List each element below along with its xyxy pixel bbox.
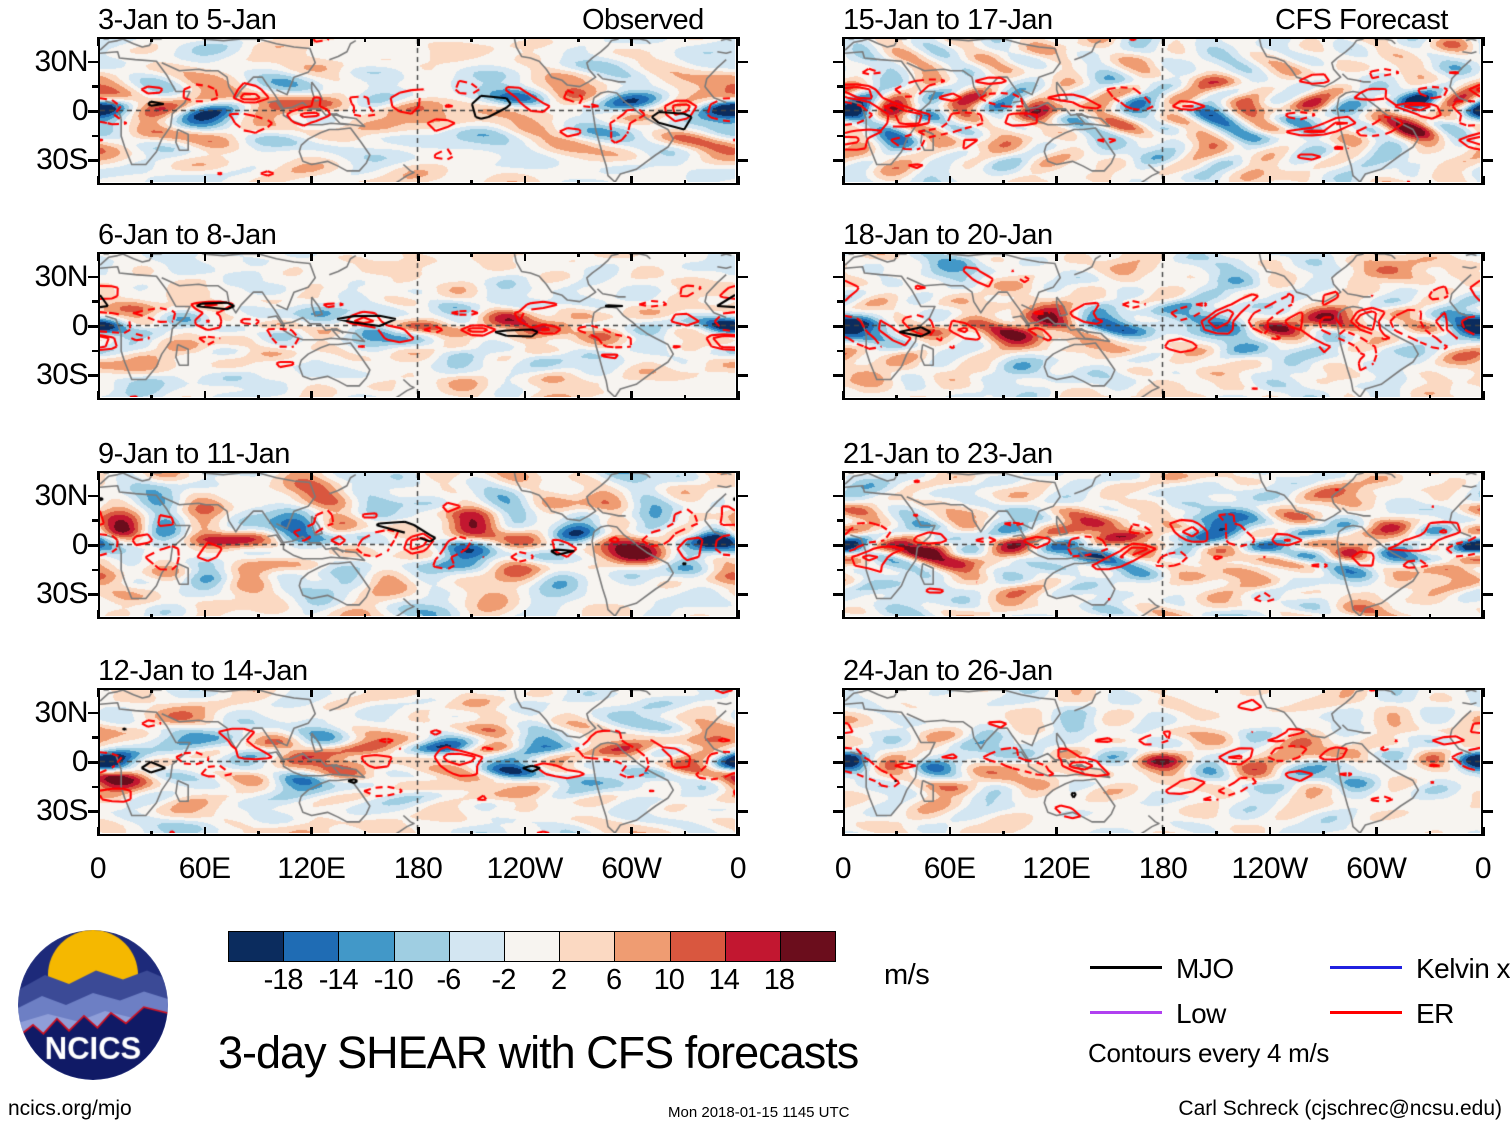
map-canvas: [845, 254, 1480, 397]
legend-label-er: ER: [1416, 1000, 1454, 1028]
axis-tick: [470, 180, 473, 185]
axis-tick: [1162, 610, 1165, 619]
axis-tick: [1322, 614, 1325, 619]
axis-tick: [577, 180, 580, 185]
axis-tick: [738, 593, 748, 596]
axis-tick: [842, 471, 845, 480]
axis-tick: [1375, 471, 1378, 480]
axis-tick: [842, 37, 845, 46]
axis-tick: [1055, 688, 1058, 697]
axis-tick: [833, 276, 843, 279]
axis-tick: [949, 391, 952, 400]
y-axis-label: 30N: [0, 698, 88, 728]
axis-tick: [364, 831, 367, 836]
axis-tick: [1269, 471, 1272, 480]
axis-tick: [310, 176, 313, 185]
axis-tick: [88, 159, 98, 162]
axis-tick: [1162, 391, 1165, 400]
axis-tick-minor: [92, 85, 98, 88]
y-axis-label: 30S: [0, 145, 88, 175]
colorbar-segment-6: [504, 932, 559, 961]
axis-tick: [97, 610, 100, 619]
axis-tick: [150, 471, 153, 476]
axis-tick: [833, 810, 843, 813]
axis-tick: [833, 593, 843, 596]
x-axis-label: 120E: [996, 854, 1116, 884]
axis-tick: [1002, 831, 1005, 836]
axis-tick: [577, 831, 580, 836]
axis-tick: [737, 176, 740, 185]
axis-tick: [88, 712, 98, 715]
axis-tick: [833, 61, 843, 64]
axis-tick: [949, 176, 952, 185]
axis-tick: [1482, 176, 1485, 185]
axis-tick: [150, 252, 153, 257]
panel-title-4: 12-Jan to 14-Jan: [98, 657, 308, 686]
legend-swatch-mjo: [1090, 966, 1162, 969]
colorbar: [228, 931, 836, 962]
axis-tick: [630, 252, 633, 261]
axis-tick: [737, 688, 740, 697]
panel-title-2: 6-Jan to 8-Jan: [98, 221, 276, 250]
axis-tick: [310, 688, 313, 697]
axis-tick: [1322, 471, 1325, 476]
axis-tick: [364, 180, 367, 185]
axis-tick: [1002, 395, 1005, 400]
axis-tick: [833, 110, 843, 113]
axis-tick: [684, 252, 687, 257]
axis-tick: [204, 176, 207, 185]
axis-tick: [1429, 614, 1432, 619]
axis-tick: [1429, 471, 1432, 476]
colorbar-segment-9: [670, 932, 725, 961]
axis-tick: [88, 374, 98, 377]
axis-tick: [417, 391, 420, 400]
axis-tick: [833, 495, 843, 498]
map-canvas: [100, 473, 735, 616]
axis-tick: [1215, 395, 1218, 400]
axis-tick: [630, 37, 633, 46]
axis-tick: [895, 688, 898, 693]
x-axis-label: 120E: [251, 854, 371, 884]
axis-tick: [738, 276, 748, 279]
axis-tick: [684, 471, 687, 476]
x-axis-label: 60E: [890, 854, 1010, 884]
axis-tick: [833, 159, 843, 162]
x-axis-label: 120W: [465, 854, 585, 884]
axis-tick: [470, 614, 473, 619]
axis-tick: [630, 471, 633, 480]
axis-tick: [470, 395, 473, 400]
axis-tick-minor: [92, 786, 98, 789]
axis-tick: [577, 614, 580, 619]
axis-tick: [257, 688, 260, 693]
colorbar-segment-11: [780, 932, 835, 961]
map-canvas: [845, 690, 1480, 833]
y-axis-label: 30S: [0, 579, 88, 609]
axis-tick: [1375, 688, 1378, 697]
axis-tick: [738, 110, 748, 113]
axis-tick: [524, 176, 527, 185]
axis-tick: [1162, 37, 1165, 46]
axis-tick: [470, 831, 473, 836]
axis-tick: [1002, 688, 1005, 693]
axis-tick: [684, 688, 687, 693]
axis-tick: [1375, 610, 1378, 619]
map-panel-2: [98, 252, 738, 400]
axis-tick: [88, 110, 98, 113]
axis-tick-minor: [92, 135, 98, 138]
axis-tick: [150, 180, 153, 185]
axis-tick: [842, 688, 845, 697]
axis-tick: [1429, 688, 1432, 693]
axis-tick: [88, 276, 98, 279]
axis-tick: [97, 827, 100, 836]
map-canvas: [100, 39, 735, 182]
axis-tick: [204, 827, 207, 836]
axis-tick: [1375, 391, 1378, 400]
axis-tick: [1269, 827, 1272, 836]
axis-tick: [1322, 37, 1325, 42]
axis-tick: [310, 37, 313, 46]
axis-tick: [1002, 37, 1005, 42]
axis-tick: [630, 391, 633, 400]
map-canvas: [100, 254, 735, 397]
axis-tick: [1109, 252, 1112, 257]
axis-tick: [630, 827, 633, 836]
panel-title-3: 9-Jan to 11-Jan: [98, 440, 290, 469]
map-panel-8: [843, 688, 1483, 836]
axis-tick: [737, 252, 740, 261]
axis-tick: [417, 471, 420, 480]
axis-tick: [257, 471, 260, 476]
axis-tick: [949, 688, 952, 697]
axis-tick: [97, 252, 100, 261]
axis-tick: [88, 495, 98, 498]
axis-tick: [1483, 61, 1493, 64]
x-axis-label: 0: [1423, 854, 1510, 884]
axis-tick: [364, 37, 367, 42]
axis-tick: [630, 176, 633, 185]
axis-tick: [1215, 252, 1218, 257]
axis-tick: [1109, 688, 1112, 693]
axis-tick: [1002, 471, 1005, 476]
axis-tick: [738, 159, 748, 162]
axis-tick: [1483, 159, 1493, 162]
axis-tick: [204, 252, 207, 261]
axis-tick: [1055, 252, 1058, 261]
colorbar-segment-2: [283, 932, 338, 961]
axis-tick: [738, 495, 748, 498]
axis-tick: [738, 712, 748, 715]
axis-tick: [1215, 471, 1218, 476]
panel-title-8: 24-Jan to 26-Jan: [843, 657, 1053, 686]
axis-tick: [1482, 688, 1485, 697]
axis-tick-minor: [92, 300, 98, 303]
panel-title-6: 18-Jan to 20-Jan: [843, 221, 1053, 250]
axis-tick-minor: [837, 300, 843, 303]
axis-tick: [417, 176, 420, 185]
axis-tick: [150, 688, 153, 693]
colorbar-segment-1: [229, 932, 283, 961]
legend-label-low: Low: [1176, 1000, 1226, 1028]
x-axis-label: 120W: [1210, 854, 1330, 884]
footer-timestamp: Mon 2018-01-15 1145 UTC: [668, 1102, 850, 1123]
axis-tick: [310, 391, 313, 400]
map-panel-7: [843, 471, 1483, 619]
colorbar-segment-4: [394, 932, 449, 961]
panel-title-7: 21-Jan to 23-Jan: [843, 440, 1053, 469]
axis-tick: [204, 471, 207, 480]
map-canvas: [100, 690, 735, 833]
axis-tick: [417, 37, 420, 46]
axis-tick: [895, 395, 898, 400]
axis-tick: [1429, 395, 1432, 400]
axis-tick: [1215, 688, 1218, 693]
axis-tick: [257, 180, 260, 185]
x-axis-label: 0: [783, 854, 903, 884]
y-axis-label: 30N: [0, 481, 88, 511]
map-panel-1: [98, 37, 738, 185]
axis-tick: [88, 810, 98, 813]
axis-tick: [204, 391, 207, 400]
axis-tick-minor: [837, 736, 843, 739]
axis-tick: [150, 37, 153, 42]
axis-tick: [842, 176, 845, 185]
colorbar-segment-10: [725, 932, 780, 961]
axis-tick: [470, 37, 473, 42]
axis-tick: [1375, 37, 1378, 46]
axis-tick: [97, 688, 100, 697]
legend-swatch-er: [1330, 1011, 1402, 1014]
contour-interval-note: Contours every 4 m/s: [1088, 1040, 1329, 1066]
axis-tick: [97, 391, 100, 400]
axis-tick: [1483, 495, 1493, 498]
column-header-right: CFS Forecast: [1275, 6, 1448, 35]
axis-tick: [257, 614, 260, 619]
axis-tick-minor: [837, 135, 843, 138]
axis-tick: [949, 471, 952, 480]
axis-tick: [895, 252, 898, 257]
axis-tick: [1002, 180, 1005, 185]
axis-tick: [738, 544, 748, 547]
axis-tick: [88, 593, 98, 596]
axis-tick: [737, 610, 740, 619]
axis-tick: [150, 614, 153, 619]
colorbar-segment-7: [559, 932, 614, 961]
axis-tick: [684, 614, 687, 619]
axis-tick: [1483, 810, 1493, 813]
axis-tick: [1482, 391, 1485, 400]
axis-tick: [895, 180, 898, 185]
axis-tick: [364, 688, 367, 693]
axis-tick: [1055, 827, 1058, 836]
axis-tick: [310, 827, 313, 836]
axis-tick: [1375, 176, 1378, 185]
axis-tick: [1322, 831, 1325, 836]
axis-tick: [1482, 610, 1485, 619]
axis-tick: [833, 761, 843, 764]
axis-tick: [737, 471, 740, 480]
axis-tick: [895, 37, 898, 42]
axis-tick-minor: [92, 569, 98, 572]
axis-tick: [1482, 827, 1485, 836]
axis-tick: [364, 614, 367, 619]
axis-tick: [1322, 180, 1325, 185]
axis-tick: [1162, 252, 1165, 261]
axis-tick: [1322, 252, 1325, 257]
axis-tick: [684, 831, 687, 836]
axis-tick: [949, 827, 952, 836]
axis-tick: [1162, 688, 1165, 697]
axis-tick: [833, 544, 843, 547]
axis-tick: [1109, 471, 1112, 476]
panel-title-1: 3-Jan to 5-Jan: [98, 6, 276, 35]
legend-swatch-kelvin-x2: [1330, 966, 1402, 969]
axis-tick: [88, 761, 98, 764]
y-axis-label: 0: [0, 530, 88, 560]
axis-tick: [1269, 37, 1272, 46]
y-axis-label: 0: [0, 311, 88, 341]
colorbar-segment-8: [614, 932, 669, 961]
axis-tick: [1429, 252, 1432, 257]
axis-tick-minor: [837, 569, 843, 572]
axis-tick: [88, 61, 98, 64]
axis-tick: [470, 471, 473, 476]
axis-tick: [97, 37, 100, 46]
axis-tick: [833, 325, 843, 328]
axis-tick: [1215, 180, 1218, 185]
axis-tick: [364, 471, 367, 476]
axis-tick: [1483, 276, 1493, 279]
axis-tick: [1162, 471, 1165, 480]
figure-title: 3-day SHEAR with CFS forecasts: [218, 1030, 858, 1075]
axis-tick-minor: [92, 519, 98, 522]
axis-tick: [1109, 614, 1112, 619]
axis-tick: [1375, 252, 1378, 261]
axis-tick: [684, 395, 687, 400]
axis-tick: [97, 471, 100, 480]
axis-tick: [737, 827, 740, 836]
colorbar-unit-label: m/s: [884, 961, 929, 990]
axis-tick: [738, 325, 748, 328]
axis-tick: [1055, 391, 1058, 400]
axis-tick: [524, 471, 527, 480]
map-canvas: [845, 473, 1480, 616]
map-canvas: [845, 39, 1480, 182]
axis-tick: [738, 374, 748, 377]
x-axis-label: 0: [38, 854, 158, 884]
legend-swatch-low: [1090, 1011, 1162, 1014]
axis-tick: [1109, 37, 1112, 42]
axis-tick: [1482, 471, 1485, 480]
axis-tick: [1109, 180, 1112, 185]
axis-tick: [1483, 593, 1493, 596]
footer-author: Carl Schreck (cjschrec@ncsu.edu): [1178, 1098, 1502, 1119]
axis-tick: [895, 614, 898, 619]
axis-tick: [97, 176, 100, 185]
axis-tick: [1483, 544, 1493, 547]
axis-tick: [1269, 176, 1272, 185]
axis-tick: [949, 610, 952, 619]
axis-tick: [1322, 688, 1325, 693]
axis-tick: [310, 471, 313, 480]
axis-tick: [895, 831, 898, 836]
axis-tick: [1483, 110, 1493, 113]
axis-tick-minor: [837, 519, 843, 522]
x-axis-label: 60W: [571, 854, 691, 884]
x-axis-label: 0: [678, 854, 798, 884]
axis-tick: [417, 827, 420, 836]
axis-tick: [524, 688, 527, 697]
axis-tick: [630, 610, 633, 619]
axis-tick: [842, 391, 845, 400]
axis-tick: [1375, 827, 1378, 836]
axis-tick: [88, 544, 98, 547]
axis-tick: [630, 688, 633, 697]
legend-label-kelvin-x2: Kelvin x2: [1416, 955, 1510, 983]
axis-tick: [1162, 176, 1165, 185]
axis-tick: [684, 180, 687, 185]
axis-tick-minor: [837, 786, 843, 789]
y-axis-label: 30N: [0, 47, 88, 77]
axis-tick: [738, 810, 748, 813]
axis-tick: [1055, 37, 1058, 46]
axis-tick: [1429, 180, 1432, 185]
footer-site-link[interactable]: ncics.org/mjo: [8, 1098, 132, 1119]
axis-tick: [1109, 831, 1112, 836]
axis-tick: [257, 831, 260, 836]
axis-tick: [738, 61, 748, 64]
x-axis-label: 60E: [145, 854, 265, 884]
axis-tick: [524, 391, 527, 400]
axis-tick: [1483, 374, 1493, 377]
axis-tick-minor: [837, 85, 843, 88]
axis-tick: [1269, 252, 1272, 261]
axis-tick: [949, 37, 952, 46]
axis-tick: [577, 688, 580, 693]
axis-tick: [310, 610, 313, 619]
axis-tick: [833, 712, 843, 715]
axis-tick: [1215, 831, 1218, 836]
map-panel-5: [843, 37, 1483, 185]
map-panel-3: [98, 471, 738, 619]
axis-tick: [684, 37, 687, 42]
axis-tick: [204, 37, 207, 46]
axis-tick: [1483, 325, 1493, 328]
axis-tick: [577, 37, 580, 42]
axis-tick: [1483, 712, 1493, 715]
colorbar-segment-3: [338, 932, 393, 961]
axis-tick: [833, 374, 843, 377]
axis-tick: [88, 325, 98, 328]
axis-tick: [1482, 37, 1485, 46]
axis-tick: [204, 688, 207, 697]
axis-tick: [737, 391, 740, 400]
axis-tick-minor: [92, 350, 98, 353]
panel-title-5: 15-Jan to 17-Jan: [843, 6, 1053, 35]
y-axis-label: 0: [0, 96, 88, 126]
axis-tick: [1429, 37, 1432, 42]
axis-tick: [738, 761, 748, 764]
axis-tick: [577, 395, 580, 400]
axis-tick: [1269, 688, 1272, 697]
axis-tick: [842, 252, 845, 261]
map-panel-4: [98, 688, 738, 836]
legend-label-mjo: MJO: [1176, 955, 1234, 983]
map-panel-6: [843, 252, 1483, 400]
axis-tick: [1483, 761, 1493, 764]
